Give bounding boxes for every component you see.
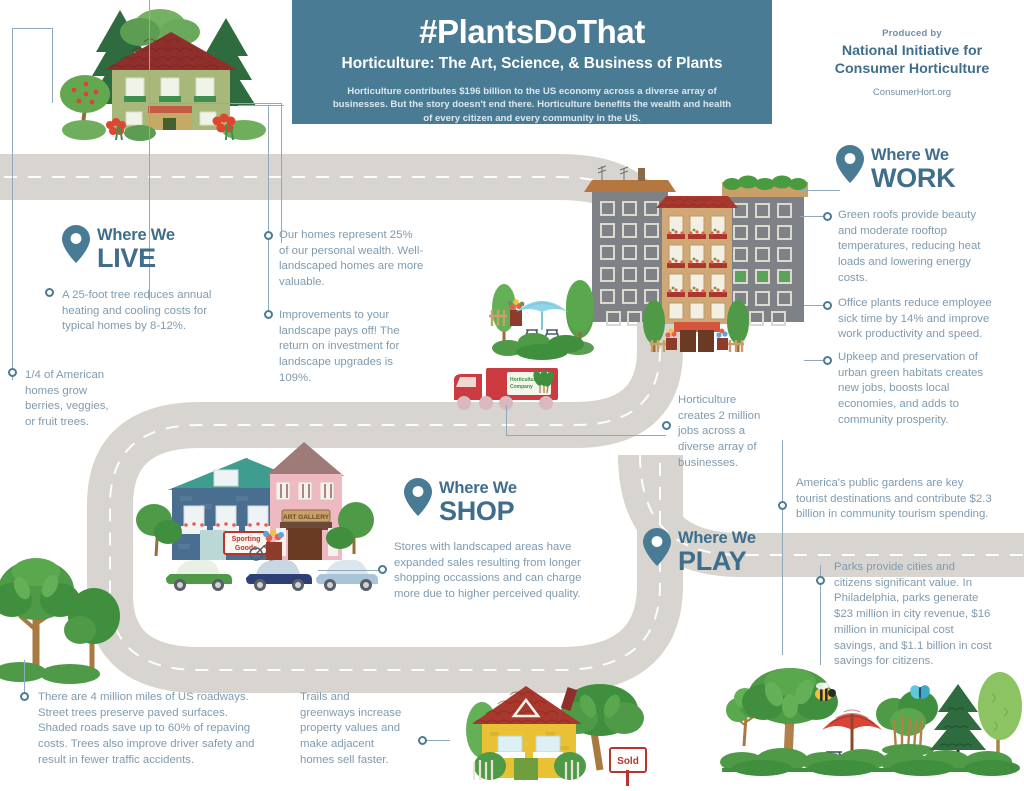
section-heading-live: Where We LIVE <box>62 225 175 272</box>
car-navy <box>246 560 312 591</box>
section-title: PLAY <box>678 547 756 575</box>
connector-dot <box>378 565 387 574</box>
house-illustration-live <box>48 0 280 140</box>
fact-stores-landscaped: Stores with landscaped areas have expand… <box>394 540 602 603</box>
truck-sign-text-line2: Company <box>510 384 533 390</box>
connector-dot <box>778 501 787 510</box>
bottom-left-trees-illustration <box>0 520 120 680</box>
apartment-building-center <box>656 196 738 352</box>
map-pin-icon <box>62 225 90 263</box>
truck-sign-text-line1: Horticulture <box>510 377 539 383</box>
connector-dot <box>8 368 17 377</box>
connector-line <box>52 28 53 103</box>
connector-line <box>281 103 282 243</box>
connector-dot <box>20 692 29 701</box>
connector-line <box>238 105 284 106</box>
connector-dot <box>264 231 273 240</box>
header-blurb: Horticulture contributes $196 billion to… <box>318 85 746 125</box>
section-eyebrow: Where We <box>97 227 175 244</box>
page-subtitle: Horticulture: The Art, Science, & Busine… <box>318 54 746 74</box>
shrub-icon <box>492 333 584 360</box>
connector-dot <box>823 356 832 365</box>
fact-tree-cooling: A 25-foot tree reduces annual heating an… <box>62 288 222 335</box>
car-lightblue <box>316 560 378 591</box>
connector-line <box>318 570 382 571</box>
svg-text:Sold: Sold <box>617 756 639 767</box>
fact-american-homes-grow: 1/4 of American homes grow berries, vegg… <box>25 368 120 431</box>
connector-line <box>12 28 52 29</box>
organization-name-line2: Consumer Horticulture <box>805 60 1019 78</box>
fact-urban-green-habitats: Upkeep and preservation of urban green h… <box>838 350 996 429</box>
office-buildings-illustration <box>570 160 822 360</box>
car-green <box>166 560 232 591</box>
connector-dot <box>816 576 825 585</box>
connector-dot <box>823 301 832 310</box>
house-door <box>163 118 176 130</box>
store-door <box>200 530 226 560</box>
shops-illustration: Sporting Goods ART GALLERY <box>140 428 372 590</box>
page-title: #PlantsDoThat <box>318 12 746 52</box>
section-title: LIVE <box>97 244 175 272</box>
house-window <box>126 112 142 125</box>
fact-landscape-roi: Improvements to your landscape pays off!… <box>279 308 427 387</box>
umbrella-icon <box>822 710 882 756</box>
connector-line <box>782 440 783 655</box>
section-heading-play: Where We PLAY <box>643 528 756 575</box>
connector-line <box>506 405 507 435</box>
fact-two-million-jobs: Horticulture creates 2 million jobs acro… <box>678 393 768 472</box>
big-tree-icon <box>742 668 838 760</box>
connector-line <box>506 435 666 436</box>
map-pin-icon <box>404 478 432 516</box>
section-heading-shop: Where We SHOP <box>404 478 517 525</box>
park-illustration-play <box>712 664 1024 791</box>
fact-parks-philadelphia: Parks provide cities and citizens signif… <box>834 560 994 670</box>
produced-by-label: Produced by <box>805 28 1019 39</box>
fact-office-plants: Office plants reduce employee sick time … <box>838 296 1000 343</box>
for-sale-sign: Sold <box>610 748 646 786</box>
house-illustration-sold: Sold <box>442 674 658 791</box>
map-pin-icon <box>643 528 671 566</box>
connector-line <box>24 660 25 692</box>
section-title: SHOP <box>439 497 517 525</box>
connector-dot <box>418 736 427 745</box>
connector-line <box>149 103 281 104</box>
fence-icon <box>489 310 507 326</box>
produced-by-block: Produced by National Initiative for Cons… <box>805 28 1019 98</box>
connector-dot <box>662 421 671 430</box>
section-eyebrow: Where We <box>439 480 517 497</box>
house-window <box>124 78 216 102</box>
organization-website[interactable]: ConsumerHort.org <box>805 87 1019 98</box>
section-heading-work: Where We WORK <box>836 145 955 192</box>
section-eyebrow: Where We <box>678 530 756 547</box>
fact-public-gardens: America's public gardens are key tourist… <box>796 476 992 523</box>
map-pin-icon <box>836 145 864 183</box>
fact-trails-greenways: Trails and greenways increase property v… <box>300 690 406 769</box>
tree-icon <box>64 588 120 672</box>
house-awning <box>148 106 192 113</box>
section-title: WORK <box>871 164 955 192</box>
section-eyebrow: Where We <box>871 147 955 164</box>
connector-line <box>800 190 840 191</box>
connector-dot <box>45 288 54 297</box>
delivery-truck-illustration: Horticulture Company <box>450 360 570 416</box>
tree-icon <box>0 558 80 670</box>
gallery-door <box>288 528 322 560</box>
fact-roadways: There are 4 million miles of US roadways… <box>38 690 268 769</box>
shrub-icon <box>876 690 938 736</box>
connector-line <box>12 28 13 380</box>
svg-text:Sporting: Sporting <box>232 536 261 543</box>
planter-icon <box>508 299 525 326</box>
planter-icon <box>263 530 284 560</box>
fact-green-roofs: Green roofs provide beauty and moderate … <box>838 208 998 287</box>
tree-icon <box>978 672 1022 758</box>
organization-name-line1: National Initiative for <box>805 42 1019 60</box>
infographic-canvas: #PlantsDoThat Horticulture: The Art, Sci… <box>0 0 1024 791</box>
connector-dot <box>264 310 273 319</box>
connector-line <box>268 105 269 315</box>
fact-personal-wealth: Our homes represent 25% of our personal … <box>279 228 424 291</box>
connector-dot <box>823 212 832 221</box>
park-gazebo-illustration <box>480 268 604 362</box>
svg-text:ART GALLERY: ART GALLERY <box>283 514 330 521</box>
house-door <box>514 758 538 780</box>
hedge-row <box>0 662 100 684</box>
header-banner: #PlantsDoThat Horticulture: The Art, Sci… <box>292 0 772 124</box>
pine-tree-icon <box>930 684 986 758</box>
fence-icon <box>650 340 744 352</box>
